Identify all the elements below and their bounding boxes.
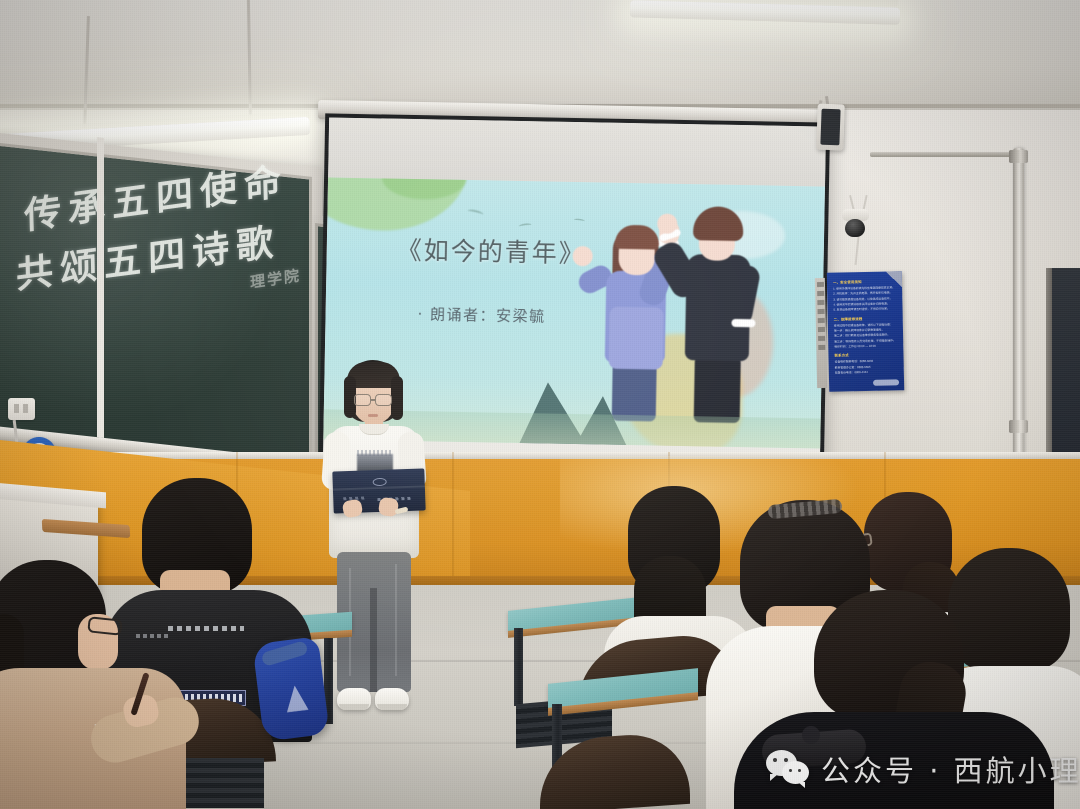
wall-poster: 一、安全使用须知 1. 使用多媒体设备前请先检查电源连接是否正常。 2. 开机顺… <box>827 271 904 392</box>
watermark: 公众号 · 西航小理 <box>766 748 1080 790</box>
wainscot-seam <box>452 452 454 582</box>
wall-speaker-icon <box>816 104 845 151</box>
presenter-shoe <box>375 688 409 710</box>
audience-member-writing <box>0 560 210 809</box>
presenter-glasses <box>354 394 371 406</box>
slide-subtitle: · 朗诵者：安梁毓 <box>417 303 545 326</box>
security-camera-icon <box>845 219 865 237</box>
bird-icon <box>467 208 484 216</box>
bird-icon <box>574 218 586 223</box>
backpack-logo-icon <box>284 684 309 712</box>
poster-contact-line: 监督投诉电话：8888-4444 <box>835 369 898 375</box>
pipe-collar-top <box>1009 150 1028 163</box>
power-outlet[interactable] <box>8 398 35 420</box>
folder-emblem-icon <box>373 478 387 486</box>
poster-contact-heading: 联系方式 <box>834 352 897 358</box>
screen-blank-band <box>328 117 826 186</box>
pipe-collar-bottom <box>1009 420 1028 433</box>
poster-heading-2: 二、故障报修流程 <box>834 315 897 321</box>
backpack[interactable] <box>252 636 329 741</box>
bird-icon <box>519 223 532 229</box>
ceiling-conduit <box>870 152 1028 157</box>
wechat-icon <box>766 750 810 788</box>
ceiling <box>0 0 1080 120</box>
poster-peeled-corner <box>886 271 902 287</box>
watermark-text: 公众号 · 西航小理 <box>821 748 1080 790</box>
poster-logo <box>873 379 899 386</box>
slide-figure-boy <box>668 198 768 424</box>
slide-title: 《如今的青年》 <box>396 231 586 270</box>
audience-glasses <box>87 616 122 635</box>
presenter-shoe <box>337 688 371 710</box>
poster-body-line: 维修时间：工作日 08:00 — 18:00 <box>834 343 897 349</box>
poster-body-line: 5. 发现设备故障请及时报修，不得自行拆卸。 <box>834 307 897 313</box>
classroom-photo: 传承五四使命 共颂五四诗歌 理学院 <box>0 0 1080 809</box>
